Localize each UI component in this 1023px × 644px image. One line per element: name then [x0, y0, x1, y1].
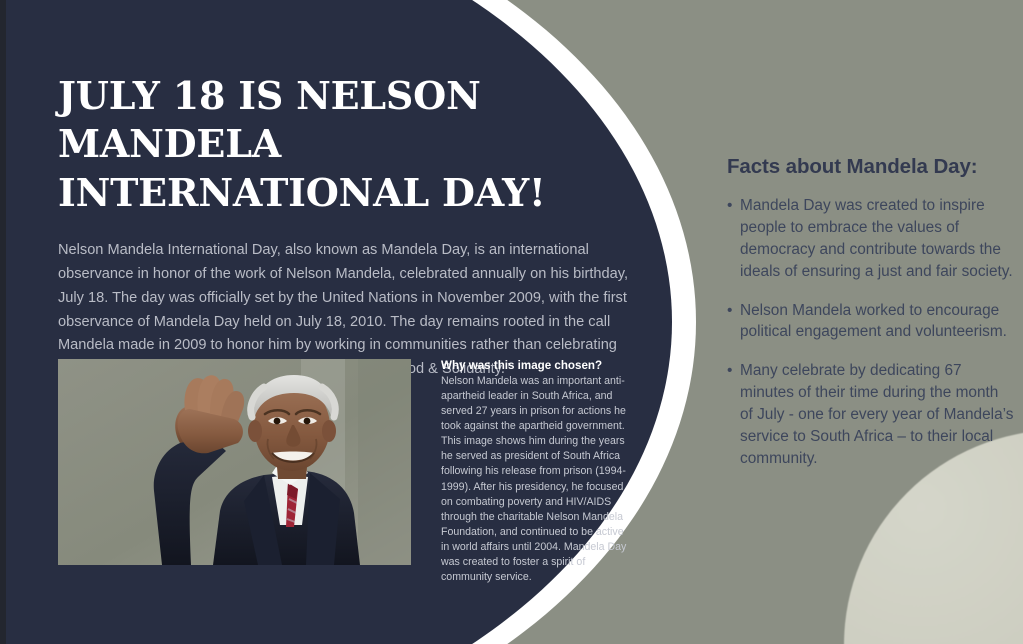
list-item: • Many celebrate by dedicating 67 minute…: [727, 360, 1015, 469]
photo-caption: Why was this image chosen? Nelson Mandel…: [441, 358, 631, 586]
bullet-icon: •: [727, 195, 732, 217]
caption-title: Why was this image chosen?: [441, 358, 631, 374]
bullet-icon: •: [727, 300, 732, 322]
caption-body: Nelson Mandela was an important anti-apa…: [441, 374, 631, 586]
list-item-label: Many celebrate by dedicating 67 minutes …: [740, 362, 1013, 467]
facts-title: Facts about Mandela Day:: [727, 155, 1015, 179]
bullet-icon: •: [727, 360, 732, 382]
slide-canvas: July 18 is Nelson Mandela International …: [0, 0, 1023, 644]
list-item-label: Mandela Day was created to inspire peopl…: [740, 197, 1013, 280]
list-item: • Mandela Day was created to inspire peo…: [727, 195, 1015, 283]
mandela-photo-illustration: [58, 359, 411, 565]
facts-list: • Mandela Day was created to inspire peo…: [727, 195, 1015, 470]
left-content-column: July 18 is Nelson Mandela International …: [58, 72, 638, 382]
page-title: July 18 is Nelson Mandela International …: [58, 72, 638, 217]
list-item-label: Nelson Mandela worked to encourage polit…: [740, 302, 1007, 341]
facts-panel: Facts about Mandela Day: • Mandela Day w…: [727, 155, 1015, 487]
mandela-photo: [58, 359, 411, 565]
list-item: • Nelson Mandela worked to encourage pol…: [727, 300, 1015, 344]
